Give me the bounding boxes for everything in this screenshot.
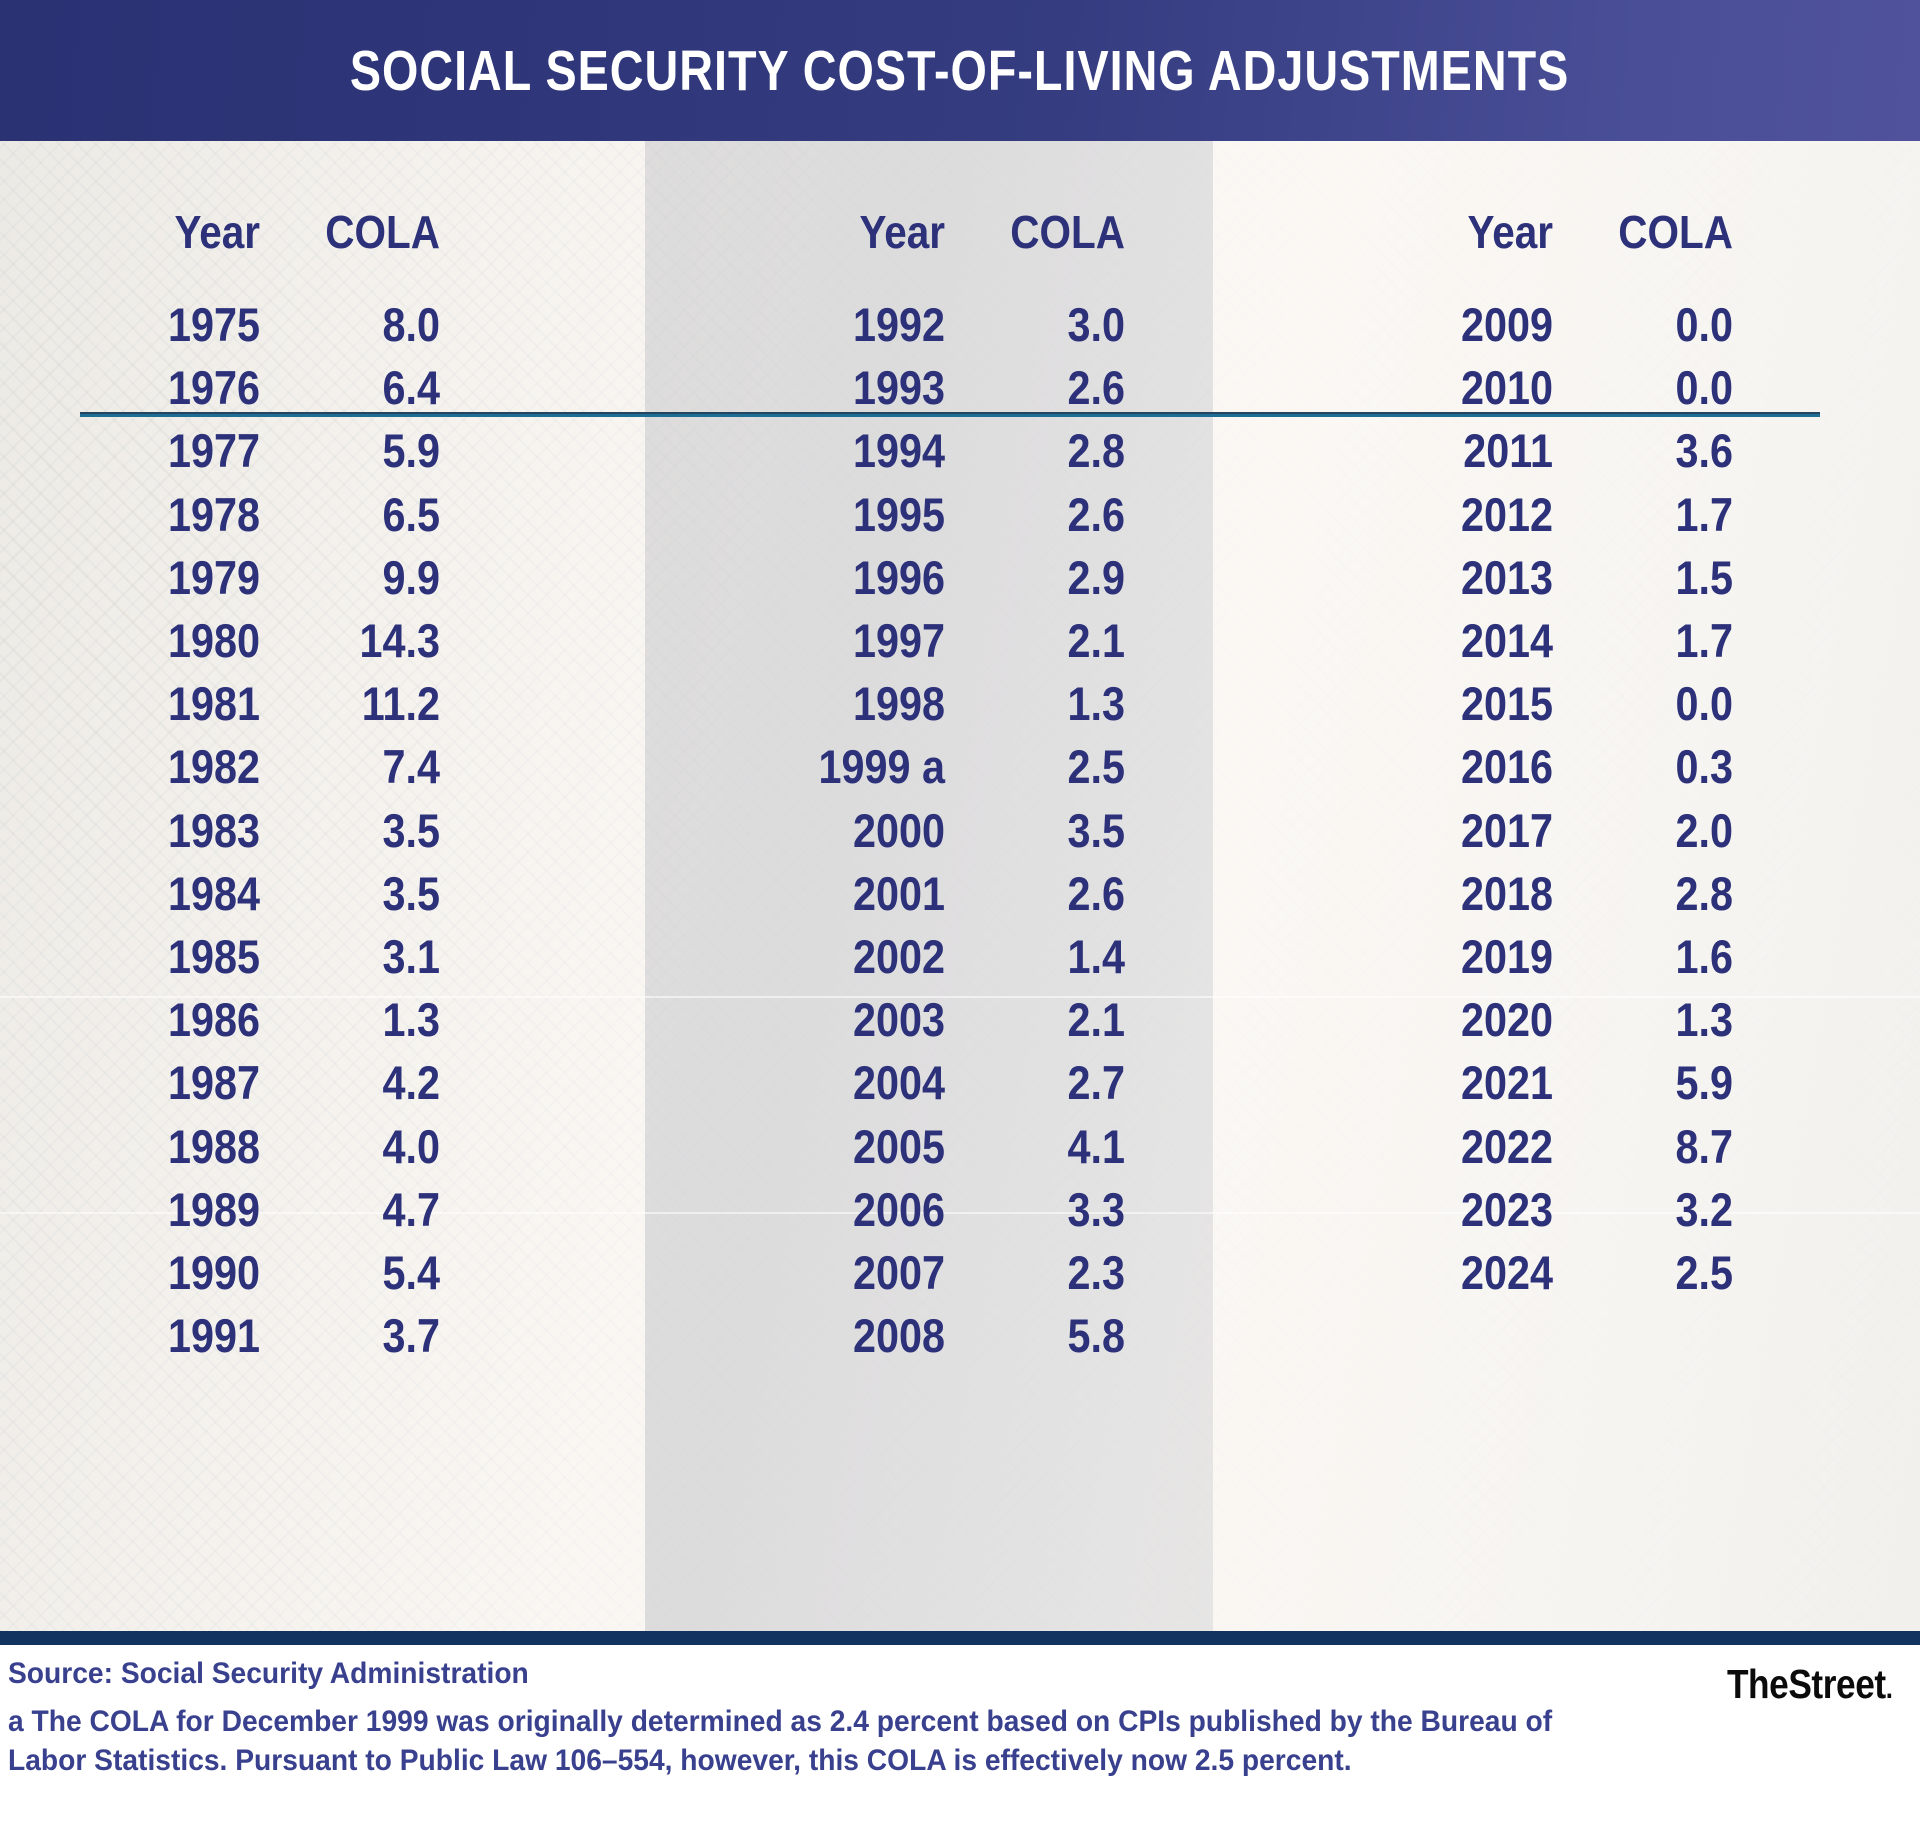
- cell-year: 2018: [1254, 870, 1553, 917]
- table-row: 198014.3: [80, 609, 645, 672]
- cell-year: 1992: [681, 301, 945, 348]
- cell-year: 1998: [681, 680, 945, 727]
- cell-year: 1979: [102, 554, 260, 601]
- table-row: 19942.8: [645, 419, 1213, 482]
- cell-cola: 6.5: [282, 491, 440, 538]
- cell-cola: 2.7: [967, 1059, 1125, 1106]
- cell-cola: 2.3: [967, 1249, 1125, 1296]
- cell-year: 1984: [102, 870, 260, 917]
- footer-text-block: Source: Social Security Administration a…: [8, 1654, 1606, 1780]
- cell-cola: 5.4: [282, 1249, 440, 1296]
- cell-cola: 6.4: [282, 364, 440, 411]
- column-header-row-1: Year COLA: [80, 141, 645, 269]
- cell-cola: 4.7: [282, 1186, 440, 1233]
- cell-cola: 2.1: [967, 617, 1125, 664]
- brand-dot: .: [1885, 1672, 1892, 1705]
- cell-cola: 2.6: [967, 491, 1125, 538]
- cell-year: 2015: [1254, 680, 1553, 727]
- cell-year: 2008: [681, 1312, 945, 1359]
- cell-year: 2023: [1254, 1186, 1553, 1233]
- cell-cola: 1.7: [1575, 491, 1733, 538]
- table-row: 19827.4: [80, 735, 645, 798]
- table-grid: Year COLA 19758.0 19766.4 19775.9 19786.…: [0, 141, 1920, 1631]
- cell-year: 1977: [102, 427, 260, 474]
- cell-cola: 0.0: [1575, 364, 1733, 411]
- cell-year: 2024: [1254, 1249, 1553, 1296]
- table-row: 20228.7: [1213, 1114, 1820, 1177]
- cell-cola: 2.6: [967, 870, 1125, 917]
- cell-cola: 11.2: [282, 680, 440, 727]
- table-column-block-2: Year COLA 19923.0 19932.6 19942.8 19952.…: [645, 141, 1213, 1631]
- column-header-row-2: Year COLA: [645, 141, 1213, 269]
- cell-year: 1994: [681, 427, 945, 474]
- cell-cola: 1.3: [282, 996, 440, 1043]
- cell-cola: 2.5: [1575, 1249, 1733, 1296]
- cell-year: 1996: [681, 554, 945, 601]
- table-row: 19923.0: [645, 293, 1213, 356]
- cell-year: 2001: [681, 870, 945, 917]
- table-row: 1999 a2.5: [645, 735, 1213, 798]
- cell-cola: 9.9: [282, 554, 440, 601]
- table-row: 20150.0: [1213, 672, 1820, 735]
- table-rows-1: 19758.0 19766.4 19775.9 19786.5 19799.9 …: [80, 269, 645, 1367]
- brand-name: TheStreet: [1726, 1661, 1885, 1707]
- table-rows-2: 19923.0 19932.6 19942.8 19952.6 19962.9 …: [645, 269, 1213, 1367]
- page-title: SOCIAL SECURITY COST-OF-LIVING ADJUSTMEN…: [350, 38, 1569, 104]
- cell-cola: 1.3: [1575, 996, 1733, 1043]
- cell-cola: 5.9: [282, 427, 440, 474]
- cell-year: 2002: [681, 933, 945, 980]
- table-row: 20113.6: [1213, 419, 1820, 482]
- table-row: 20121.7: [1213, 483, 1820, 546]
- table-row: 19861.3: [80, 988, 645, 1051]
- table-row: 19932.6: [645, 356, 1213, 419]
- cell-year: 2012: [1254, 491, 1553, 538]
- table-row: 20100.0: [1213, 356, 1820, 419]
- cell-cola: 2.6: [967, 364, 1125, 411]
- cell-year: 2003: [681, 996, 945, 1043]
- cell-year: 2014: [1254, 617, 1553, 664]
- table-row: 19952.6: [645, 483, 1213, 546]
- brand-logo: TheStreet.: [1726, 1661, 1892, 1708]
- table-row: 19853.1: [80, 925, 645, 988]
- table-row: 20191.6: [1213, 925, 1820, 988]
- column-header-cola-3: COLA: [1575, 205, 1733, 259]
- table-row: 20233.2: [1213, 1178, 1820, 1241]
- cell-year: 2016: [1254, 743, 1553, 790]
- source-label: Source: Social Security Administration: [8, 1654, 1606, 1693]
- table-row: 19894.7: [80, 1178, 645, 1241]
- cell-cola: 4.0: [282, 1123, 440, 1170]
- column-header-year-2: Year: [681, 205, 945, 259]
- table-row: 20012.6: [645, 862, 1213, 925]
- cell-year: 1975: [102, 301, 260, 348]
- table-row: 19786.5: [80, 483, 645, 546]
- cell-year: 2017: [1254, 807, 1553, 854]
- cell-year: 1997: [681, 617, 945, 664]
- cell-year: 2019: [1254, 933, 1553, 980]
- cell-cola: 7.4: [282, 743, 440, 790]
- cell-year: 2020: [1254, 996, 1553, 1043]
- table-row: 20242.5: [1213, 1241, 1820, 1304]
- cell-year: 1988: [102, 1123, 260, 1170]
- cell-year: 1976: [102, 364, 260, 411]
- cell-cola: 3.7: [282, 1312, 440, 1359]
- column-header-cola-1: COLA: [282, 205, 440, 259]
- table-row: 19766.4: [80, 356, 645, 419]
- cell-year: 2022: [1254, 1123, 1553, 1170]
- table-row: 19913.7: [80, 1304, 645, 1367]
- cell-year: 1991: [102, 1312, 260, 1359]
- cell-cola: 4.1: [967, 1123, 1125, 1170]
- cell-cola: 0.0: [1575, 680, 1733, 727]
- cell-cola: 4.2: [282, 1059, 440, 1106]
- cell-cola: 2.8: [1575, 870, 1733, 917]
- table-row: 20042.7: [645, 1051, 1213, 1114]
- table-row: 19843.5: [80, 862, 645, 925]
- cell-cola: 2.8: [967, 427, 1125, 474]
- column-header-year-3: Year: [1254, 205, 1553, 259]
- title-bar: SOCIAL SECURITY COST-OF-LIVING ADJUSTMEN…: [0, 0, 1920, 141]
- footer: Source: Social Security Administration a…: [0, 1645, 1920, 1828]
- table-row: 20215.9: [1213, 1051, 1820, 1114]
- table-board: Year COLA 19758.0 19766.4 19775.9 19786.…: [0, 141, 1920, 1631]
- table-row: 19905.4: [80, 1241, 645, 1304]
- cell-cola: 3.1: [282, 933, 440, 980]
- cell-year: 1978: [102, 491, 260, 538]
- cell-year-footnoted: 1999 a: [681, 743, 945, 790]
- cell-cola: 3.2: [1575, 1186, 1733, 1233]
- cell-year: 2000: [681, 807, 945, 854]
- cell-cola: 1.4: [967, 933, 1125, 980]
- cell-year: 2011: [1254, 427, 1553, 474]
- cell-cola: 8.7: [1575, 1123, 1733, 1170]
- cell-cola: 0.0: [1575, 301, 1733, 348]
- table-row: 19972.1: [645, 609, 1213, 672]
- cell-cola: 3.5: [282, 870, 440, 917]
- cell-year: 2010: [1254, 364, 1553, 411]
- cell-cola: 5.8: [967, 1312, 1125, 1359]
- table-row: 19775.9: [80, 419, 645, 482]
- cell-cola: 0.3: [1575, 743, 1733, 790]
- cell-year: 1993: [681, 364, 945, 411]
- table-rows-3: 20090.0 20100.0 20113.6 20121.7 20131.5 …: [1213, 269, 1820, 1304]
- cell-cola: 2.0: [1575, 807, 1733, 854]
- cell-cola: 5.9: [1575, 1059, 1733, 1106]
- table-row: 19799.9: [80, 546, 645, 609]
- table-row: 19833.5: [80, 799, 645, 862]
- footer-divider: [0, 1631, 1920, 1645]
- table-row: 19884.0: [80, 1114, 645, 1177]
- table-row: 20021.4: [645, 925, 1213, 988]
- cell-year: 2004: [681, 1059, 945, 1106]
- cell-cola: 2.1: [967, 996, 1125, 1043]
- cell-cola: 8.0: [282, 301, 440, 348]
- cell-cola: 3.0: [967, 301, 1125, 348]
- cell-cola: 1.5: [1575, 554, 1733, 601]
- infographic-page: SOCIAL SECURITY COST-OF-LIVING ADJUSTMEN…: [0, 0, 1920, 1828]
- table-column-block-3: Year COLA 20090.0 20100.0 20113.6 20121.…: [1213, 141, 1920, 1631]
- table-row: 20032.1: [645, 988, 1213, 1051]
- cell-year: 1989: [102, 1186, 260, 1233]
- column-header-cola-2: COLA: [967, 205, 1125, 259]
- cell-cola: 14.3: [282, 617, 440, 664]
- cell-year: 1986: [102, 996, 260, 1043]
- column-header-row-3: Year COLA: [1213, 141, 1820, 269]
- table-column-block-1: Year COLA 19758.0 19766.4 19775.9 19786.…: [0, 141, 645, 1631]
- cell-cola: 3.5: [967, 807, 1125, 854]
- cell-year: 1982: [102, 743, 260, 790]
- cell-cola: 3.5: [282, 807, 440, 854]
- cell-cola: 2.9: [967, 554, 1125, 601]
- table-row: 20085.8: [645, 1304, 1213, 1367]
- cell-year: 2009: [1254, 301, 1553, 348]
- table-row: 19758.0: [80, 293, 645, 356]
- table-row: 20201.3: [1213, 988, 1820, 1051]
- cell-cola: 1.6: [1575, 933, 1733, 980]
- table-row: 20160.3: [1213, 735, 1820, 798]
- cell-cola: 1.3: [967, 680, 1125, 727]
- cell-year: 2013: [1254, 554, 1553, 601]
- table-row: 20003.5: [645, 799, 1213, 862]
- cell-year: 1990: [102, 1249, 260, 1296]
- footnote-text: a The COLA for December 1999 was origina…: [8, 1702, 1606, 1780]
- table-row: 20172.0: [1213, 799, 1820, 862]
- cell-year: 2007: [681, 1249, 945, 1296]
- table-row: 19874.2: [80, 1051, 645, 1114]
- cell-cola: 3.3: [967, 1186, 1125, 1233]
- table-row: 20182.8: [1213, 862, 1820, 925]
- cell-year: 2021: [1254, 1059, 1553, 1106]
- cell-year: 1995: [681, 491, 945, 538]
- cell-cola: 3.6: [1575, 427, 1733, 474]
- table-row: 20090.0: [1213, 293, 1820, 356]
- table-row: 20072.3: [645, 1241, 1213, 1304]
- cell-year: 1980: [102, 617, 260, 664]
- cell-year: 2006: [681, 1186, 945, 1233]
- cell-year: 1985: [102, 933, 260, 980]
- table-row: 20054.1: [645, 1114, 1213, 1177]
- cell-year: 2005: [681, 1123, 945, 1170]
- cell-cola: 2.5: [967, 743, 1125, 790]
- column-header-year-1: Year: [102, 205, 260, 259]
- cell-cola: 1.7: [1575, 617, 1733, 664]
- cell-year: 1981: [102, 680, 260, 727]
- cell-year: 1983: [102, 807, 260, 854]
- table-row: 19981.3: [645, 672, 1213, 735]
- cell-year: 1987: [102, 1059, 260, 1106]
- table-row: 19962.9: [645, 546, 1213, 609]
- table-row: 198111.2: [80, 672, 645, 735]
- table-row: 20063.3: [645, 1178, 1213, 1241]
- table-row: 20141.7: [1213, 609, 1820, 672]
- table-row: 20131.5: [1213, 546, 1820, 609]
